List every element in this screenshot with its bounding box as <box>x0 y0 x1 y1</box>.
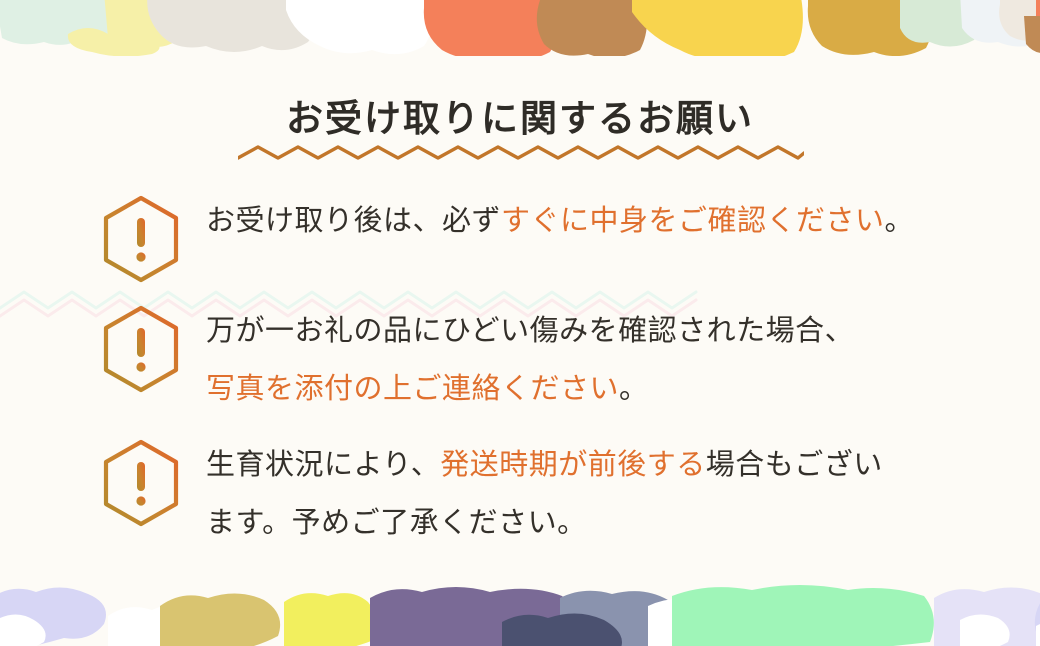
exclamation-hexagon-icon <box>98 304 184 394</box>
list-item-line: 生育状況により、発送時期が前後する場合もござい <box>206 436 966 494</box>
zigzag-divider <box>238 142 804 164</box>
text-segment-highlight: 発送時期が前後する <box>440 449 706 481</box>
list-item: お受け取り後は、必ずすぐに中身をご確認ください。 <box>0 192 1040 284</box>
exclamation-hexagon-svg <box>98 438 184 528</box>
text-segment: 。 <box>885 205 915 237</box>
text-segment: 場合もござい <box>706 449 883 481</box>
bottom-blobs-svg <box>0 580 1040 646</box>
top-decoration-band <box>0 0 1040 66</box>
list-item-line: 写真を添付の上ご連絡ください。 <box>206 360 966 418</box>
top-blobs-svg <box>0 0 1040 66</box>
list-item: 万が一お礼の品にひどい傷みを確認された場合、 写真を添付の上ご連絡ください。 <box>0 302 1040 418</box>
text-segment-highlight: 写真を添付の上ご連絡ください <box>206 373 619 405</box>
list-item: 生育状況により、発送時期が前後する場合もござい ます。予めご了承ください。 <box>0 436 1040 552</box>
zigzag-divider-svg <box>238 142 804 164</box>
text-segment: 生育状況により、 <box>206 449 440 481</box>
bottom-decoration-band <box>0 580 1040 646</box>
list-item-text: 生育状況により、発送時期が前後する場合もござい ます。予めご了承ください。 <box>206 436 966 552</box>
page-title: お受け取りに関するお願い <box>0 88 1040 142</box>
text-segment: お受け取り後は、必ず <box>206 205 501 237</box>
exclamation-hexagon-svg <box>98 304 184 394</box>
notice-list: お受け取り後は、必ずすぐに中身をご確認ください。 <box>0 192 1040 570</box>
notice-card: お受け取りに関するお願い <box>0 0 1040 646</box>
text-segment: 万が一お礼の品にひどい傷みを確認された場合、 <box>206 315 854 347</box>
text-segment-highlight: すぐに中身をご確認ください <box>501 205 885 237</box>
text-segment: 。 <box>619 373 649 405</box>
exclamation-hexagon-svg <box>98 194 184 284</box>
exclamation-hexagon-icon <box>98 438 184 528</box>
list-item-line: 万が一お礼の品にひどい傷みを確認された場合、 <box>206 302 966 360</box>
list-item-line: ます。予めご了承ください。 <box>206 494 966 552</box>
list-item-text: 万が一お礼の品にひどい傷みを確認された場合、 写真を添付の上ご連絡ください。 <box>206 302 966 418</box>
exclamation-hexagon-icon <box>98 194 184 284</box>
text-segment: ます。予めご了承ください。 <box>206 507 587 539</box>
list-item-text: お受け取り後は、必ずすぐに中身をご確認ください。 <box>206 192 966 250</box>
